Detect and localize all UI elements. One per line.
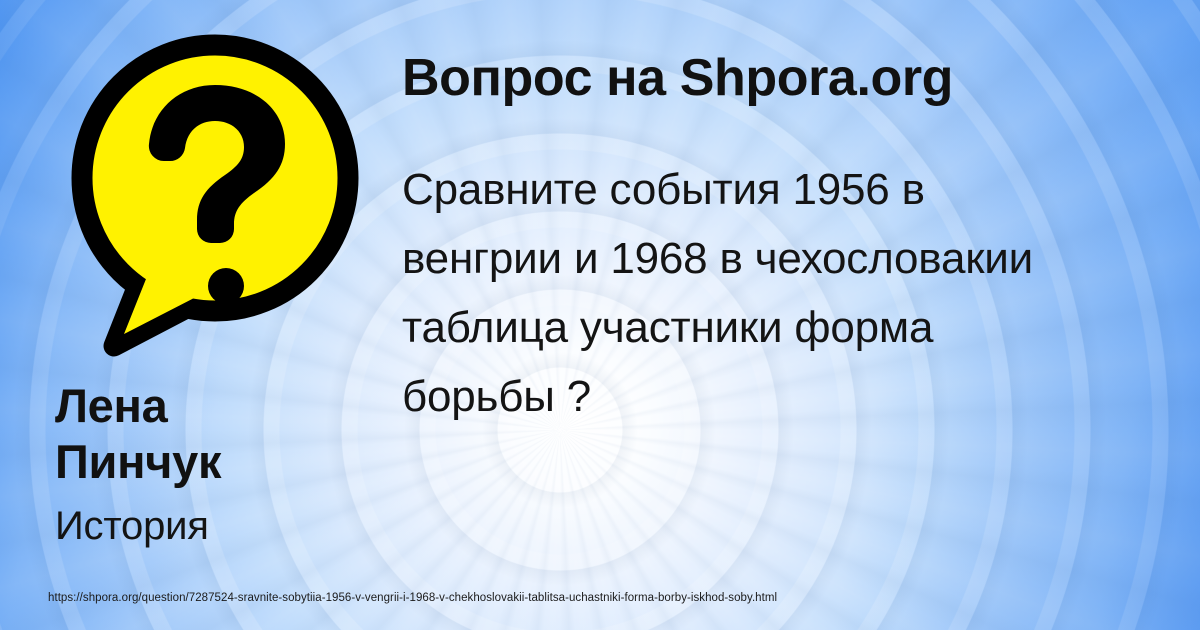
question-text: Сравните события 1956 в венгрии и 1968 в… bbox=[402, 155, 1200, 431]
question-line-2: венгрии и 1968 в чехословакии bbox=[402, 224, 1200, 293]
source-url[interactable]: https://shpora.org/question/7287524-srav… bbox=[48, 592, 777, 604]
question-mark-dot bbox=[208, 268, 244, 304]
author-name: Лена Пинчук bbox=[55, 378, 385, 490]
page-title: Вопрос на Shpora.org bbox=[402, 51, 1192, 106]
question-speech-bubble-icon bbox=[52, 28, 372, 358]
question-line-3: таблица участники форма bbox=[402, 293, 1200, 362]
question-line-1: Сравните события 1956 в bbox=[402, 155, 1200, 224]
author-last-name: Пинчук bbox=[55, 434, 385, 490]
author-first-name: Лена bbox=[55, 378, 385, 434]
subject-label: История bbox=[55, 504, 209, 549]
share-card: Вопрос на Shpora.org Сравните события 19… bbox=[0, 0, 1200, 630]
bubble-body bbox=[82, 45, 348, 311]
question-line-4: борьбы ? bbox=[402, 362, 1200, 431]
